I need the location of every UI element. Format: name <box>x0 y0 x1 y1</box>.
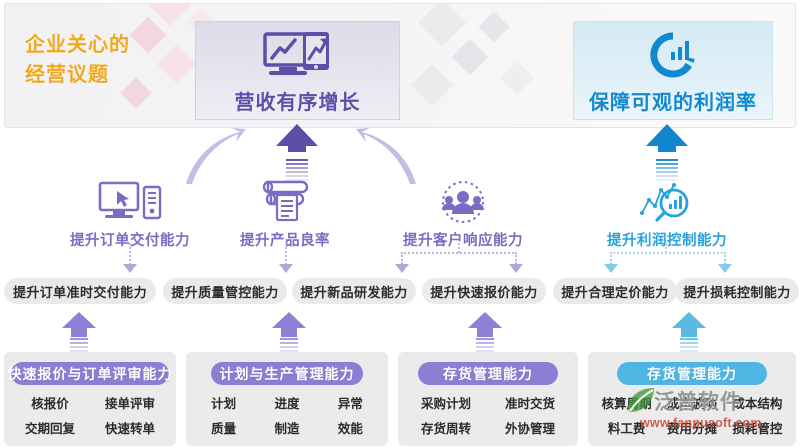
connector-arrow <box>395 264 409 273</box>
connector-line <box>401 252 403 264</box>
brand-title-line1: 企业关心的 <box>25 30 130 60</box>
main-arrow-profit <box>646 124 688 183</box>
pill-reasonable-pricing[interactable]: 提升合理定价能力 <box>553 278 677 304</box>
main-arrow-revenue <box>276 124 318 183</box>
panel-item-list: 采购计划 准时交货 存货周转 外协管理 <box>404 394 572 440</box>
customers-circle-icon <box>388 178 538 224</box>
magnifier-chart-icon <box>592 178 742 224</box>
decor-diamond <box>500 61 534 95</box>
panel-item: 交期回复 <box>10 419 90 440</box>
pill-label: 提升快速报价能力 <box>430 282 537 301</box>
panel-item-list: 计划 进度 异常 质量 制造 效能 <box>192 394 382 440</box>
connector-arrow <box>279 264 293 273</box>
panel-item: 异常 <box>319 394 382 415</box>
goal-card-revenue[interactable]: 营收有序增长 <box>195 21 400 120</box>
connector-arrow <box>718 264 732 273</box>
panel-item: 准时交货 <box>488 394 572 415</box>
goal-card-profit[interactable]: 保障可观的利润率 <box>573 21 773 120</box>
panel-item: 采购计划 <box>404 394 488 415</box>
panel-inventory-management-purple[interactable]: 存货管理能力 采购计划 准时交货 存货周转 外协管理 <box>398 352 578 446</box>
panel-item: 成本波动 <box>659 394 724 415</box>
monitor-chart-icon <box>263 30 333 82</box>
connector-line <box>285 243 287 265</box>
panel-title: 存货管理能力 <box>617 362 767 385</box>
decor-diamond <box>418 3 466 47</box>
panel-title: 快速报价与订单评审能力 <box>11 362 169 385</box>
panel-item: 质量 <box>192 419 255 440</box>
pill-label: 提升合理定价能力 <box>561 282 668 301</box>
panel-item: 计划 <box>192 394 255 415</box>
desktop-cursor-icon <box>55 178 205 224</box>
decor-diamond <box>478 11 509 42</box>
pill-label: 提升损耗控制能力 <box>683 282 790 301</box>
connector-arrow <box>123 264 137 273</box>
panel-item: 存货周转 <box>404 419 488 440</box>
pill-loss-control[interactable]: 提升损耗控制能力 <box>675 278 799 304</box>
connector-line <box>401 252 517 254</box>
pill-label: 提升订单准时交付能力 <box>13 282 147 301</box>
decor-diamond <box>149 3 191 26</box>
connector-line <box>610 252 612 264</box>
pill-new-product-rnd[interactable]: 提升新品研发能力 <box>292 278 416 304</box>
capability-label: 提升客户响应能力 <box>388 229 538 250</box>
panel-item: 损耗管控 <box>725 419 790 440</box>
capability-product-yield[interactable]: 提升产品良率 <box>210 178 360 250</box>
panel-plan-production-management[interactable]: 计划与生产管理能力 计划 进度 异常 质量 制造 效能 <box>186 352 388 446</box>
capability-order-delivery[interactable]: 提升订单交付能力 <box>55 178 205 250</box>
header-band: 企业关心的 经营议题 营收有序增长 <box>4 3 796 128</box>
pill-label: 提升质量管控能力 <box>171 282 278 301</box>
brand-title-line2: 经营议题 <box>25 60 130 90</box>
connector-arrow <box>509 264 523 273</box>
panel-item: 料工费 <box>594 419 659 440</box>
connector-line <box>724 252 726 264</box>
panel-item: 成本结构 <box>725 394 790 415</box>
capability-customer-response[interactable]: 提升客户响应能力 <box>388 178 538 250</box>
brand-title: 企业关心的 经营议题 <box>25 30 130 90</box>
goal-label-profit: 保障可观的利润率 <box>589 86 757 115</box>
panel-item: 核算周期 <box>594 394 659 415</box>
goal-label-revenue: 营收有序增长 <box>235 86 361 115</box>
connector-line <box>515 252 517 264</box>
panel-item-list: 核算周期 成本波动 成本结构 料工费 费用分摊 损耗管控 <box>594 394 790 440</box>
panel-item: 核报价 <box>10 394 90 415</box>
panel-item: 效能 <box>319 419 382 440</box>
diagram-canvas: 企业关心的 经营议题 营收有序增长 <box>0 0 800 448</box>
panel-item: 制造 <box>255 419 318 440</box>
panel-item: 接单评审 <box>90 394 170 415</box>
connector-line <box>610 252 726 254</box>
capability-label: 提升利润控制能力 <box>592 229 742 250</box>
panel-inventory-management-blue[interactable]: 存货管理能力 核算周期 成本波动 成本结构 料工费 费用分摊 损耗管控 <box>588 352 796 446</box>
panel-item-list: 核报价 接单评审 交期回复 快速转单 <box>10 394 170 440</box>
panel-item: 快速转单 <box>90 419 170 440</box>
decor-diamond <box>411 64 453 106</box>
panel-quotation-order-review[interactable]: 快速报价与订单评审能力 核报价 接单评审 交期回复 快速转单 <box>4 352 176 446</box>
decor-diamond <box>130 17 167 54</box>
panel-title: 计划与生产管理能力 <box>211 362 363 385</box>
capability-profit-control[interactable]: 提升利润控制能力 <box>592 178 742 250</box>
donut-bar-chart-icon <box>645 30 701 82</box>
decor-diamond <box>452 39 489 76</box>
pill-order-ontime-delivery[interactable]: 提升订单准时交付能力 <box>4 278 156 304</box>
decor-diamond <box>157 44 197 84</box>
connector-line <box>129 243 131 265</box>
scroll-document-icon <box>210 178 360 224</box>
panel-item: 外协管理 <box>488 419 572 440</box>
pill-label: 提升新品研发能力 <box>300 282 407 301</box>
panel-title: 存货管理能力 <box>418 362 558 385</box>
connector-arrow <box>604 264 618 273</box>
pill-fast-quotation[interactable]: 提升快速报价能力 <box>422 278 546 304</box>
panel-item: 进度 <box>255 394 318 415</box>
pill-quality-control[interactable]: 提升质量管控能力 <box>163 278 287 304</box>
panel-item: 费用分摊 <box>659 419 724 440</box>
